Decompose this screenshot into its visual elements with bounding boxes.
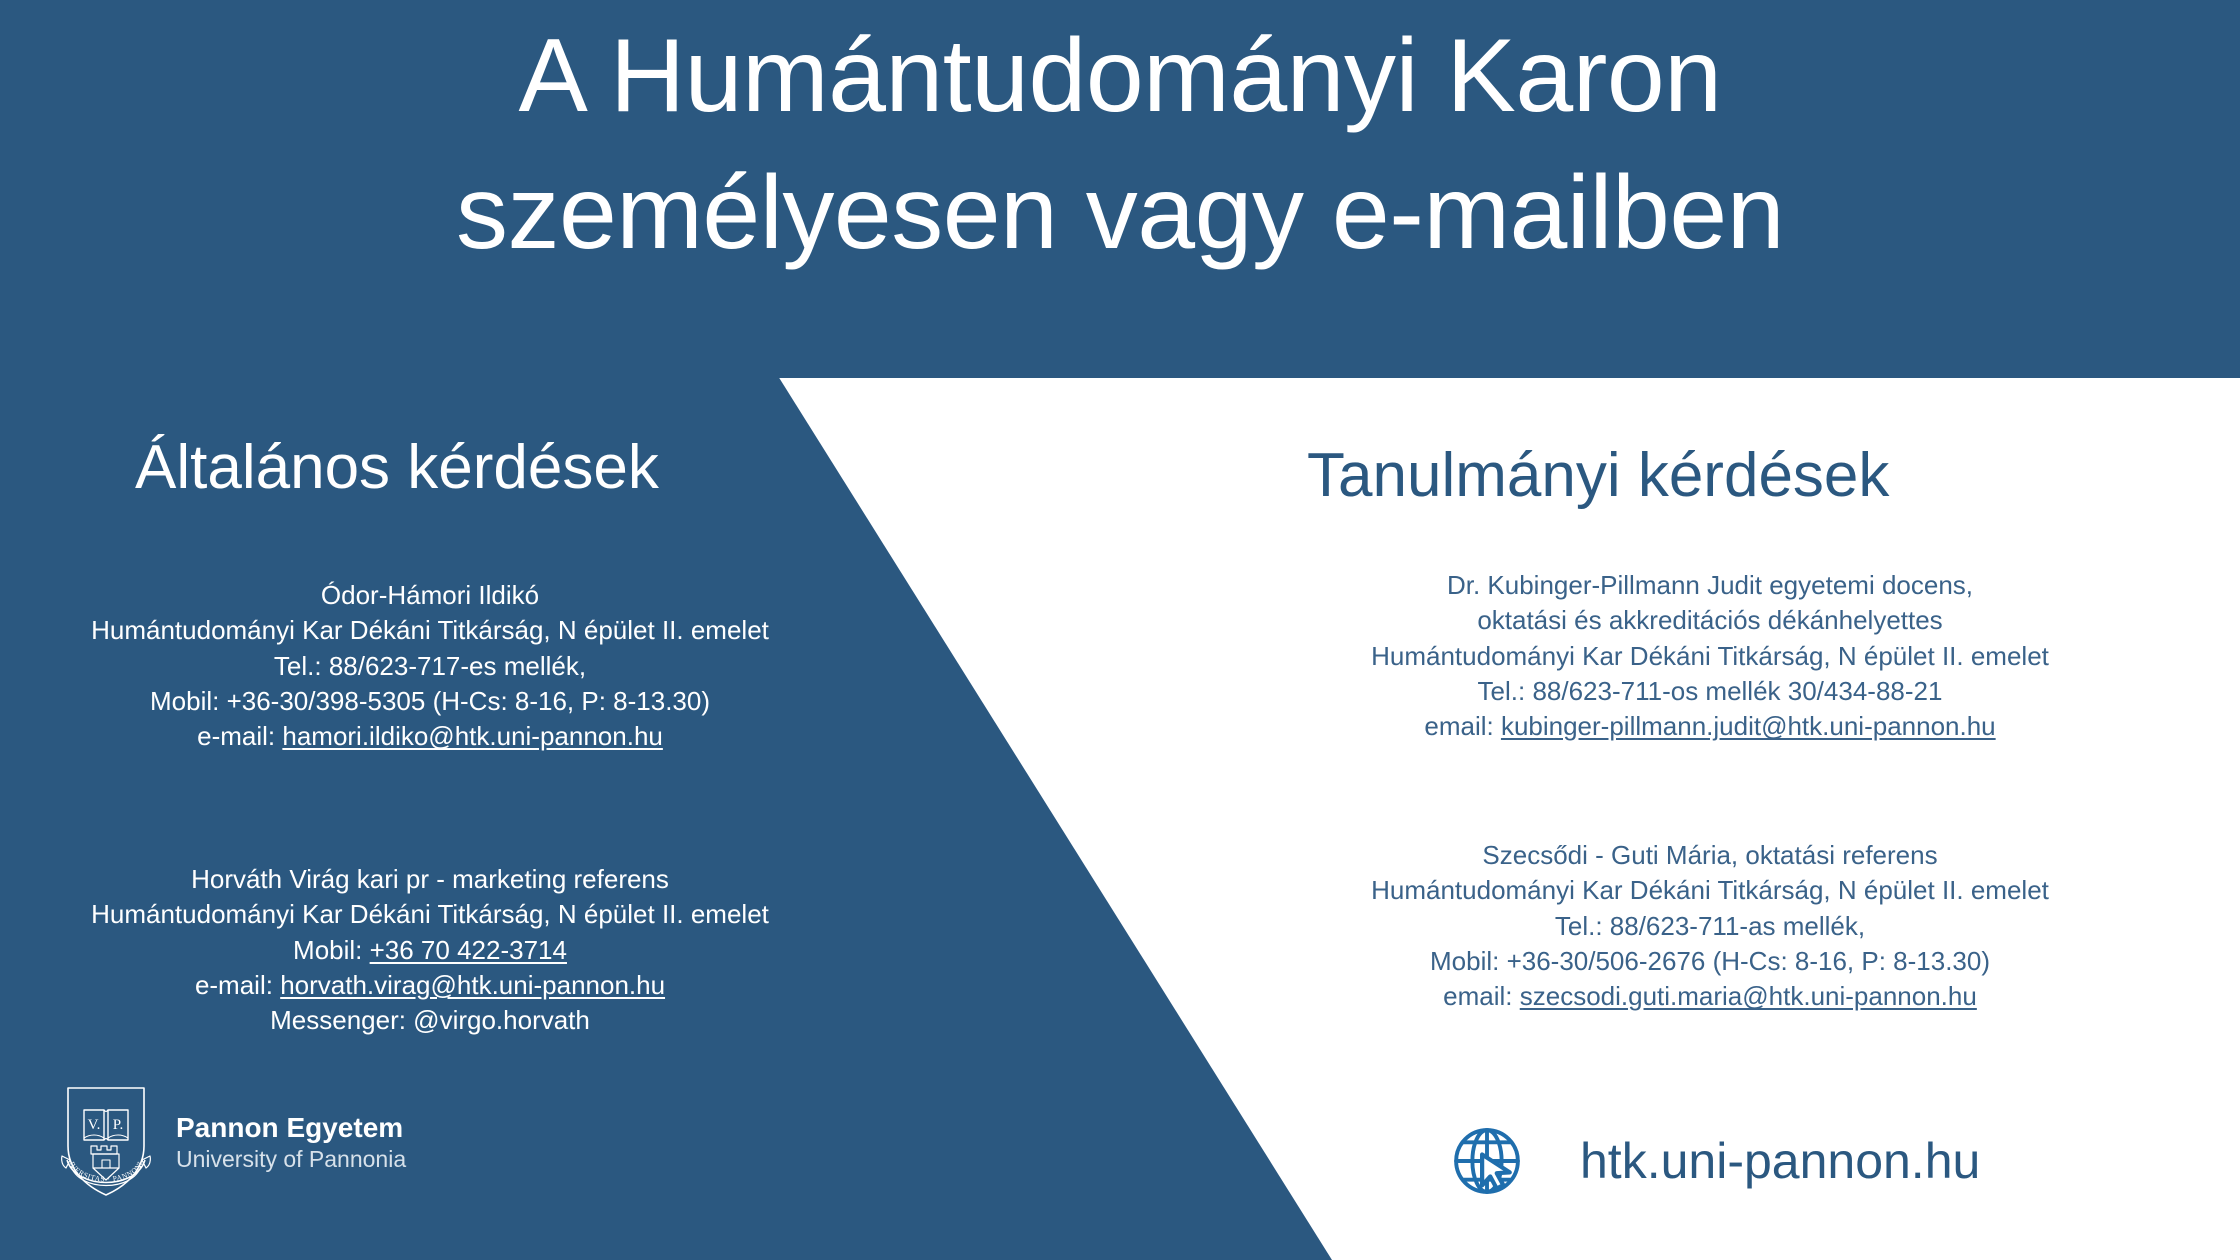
- contact-line: Dr. Kubinger-Pillmann Judit egyetemi doc…: [1280, 568, 2140, 603]
- contact-line: Tel.: 88/623-711-as mellék,: [1280, 909, 2140, 944]
- contact-line: e-mail: horvath.virag@htk.uni-pannon.hu: [20, 968, 840, 1003]
- contact-line: Szecsődi - Guti Mária, oktatási referens: [1280, 838, 2140, 873]
- contact-mobile: Mobil: +36-30/398-5305 (H-Cs: 8-16, P: 8…: [150, 686, 710, 716]
- contact-line: Humántudományi Kar Dékáni Titkárság, N é…: [20, 897, 840, 932]
- university-wordmark: Pannon Egyetem University of Pannonia: [176, 1111, 406, 1173]
- contact-email-label: e-mail:: [197, 721, 282, 751]
- contact-name: Ódor-Hámori Ildikó: [321, 580, 539, 610]
- svg-text:V.: V.: [88, 1117, 101, 1133]
- pannon-university-crest-icon: V. P. UNIVERSITAS · PANNONICA: [58, 1082, 154, 1202]
- university-name-hu: Pannon Egyetem: [176, 1111, 406, 1145]
- university-logo: V. P. UNIVERSITAS · PANNONICA: [58, 1082, 406, 1202]
- contact-phone: Tel.: 88/623-711-as mellék,: [1555, 911, 1865, 941]
- contact-email-link[interactable]: szecsodi.guti.maria@htk.uni-pannon.hu: [1520, 981, 1977, 1011]
- contact-line: e-mail: hamori.ildiko@htk.uni-pannon.hu: [20, 719, 840, 754]
- website-row[interactable]: htk.uni-pannon.hu: [1448, 1122, 1980, 1200]
- contact-email-label: email:: [1424, 711, 1501, 741]
- contact-name: Horváth Virág kari pr - marketing refere…: [191, 864, 669, 894]
- contact-line: Horváth Virág kari pr - marketing refere…: [20, 862, 840, 897]
- university-name-en: University of Pannonia: [176, 1145, 406, 1173]
- contact-block-general-2: Horváth Virág kari pr - marketing refere…: [20, 862, 840, 1039]
- website-url[interactable]: htk.uni-pannon.hu: [1580, 1132, 1980, 1190]
- contact-mobile-label: Mobil:: [293, 935, 370, 965]
- right-column-heading: Tanulmányi kérdések: [1307, 445, 1889, 507]
- contact-line: email: szecsodi.guti.maria@htk.uni-panno…: [1280, 979, 2140, 1014]
- contact-office: Humántudományi Kar Dékáni Titkárság, N é…: [1371, 641, 2049, 671]
- contact-name: Dr. Kubinger-Pillmann Judit egyetemi doc…: [1447, 570, 1973, 600]
- contact-email-link[interactable]: hamori.ildiko@htk.uni-pannon.hu: [282, 721, 663, 751]
- globe-cursor-icon: [1448, 1122, 1526, 1200]
- contact-line: Ódor-Hámori Ildikó: [20, 578, 840, 613]
- contact-line: Humántudományi Kar Dékáni Titkárság, N é…: [1280, 639, 2140, 674]
- contact-line: Mobil: +36 70 422-3714: [20, 933, 840, 968]
- contact-email-label: e-mail:: [195, 970, 280, 1000]
- left-column-heading: Általános kérdések: [135, 437, 659, 499]
- contact-mobile: Mobil: +36-30/506-2676 (H-Cs: 8-16, P: 8…: [1430, 946, 1990, 976]
- contact-office: Humántudományi Kar Dékáni Titkárság, N é…: [91, 899, 769, 929]
- contact-phone: Tel.: 88/623-717-es mellék,: [274, 651, 586, 681]
- contact-line: Messenger: @virgo.horvath: [20, 1003, 840, 1038]
- contact-email-label: email:: [1443, 981, 1520, 1011]
- contact-email-link[interactable]: horvath.virag@htk.uni-pannon.hu: [280, 970, 665, 1000]
- contact-block-general-1: Ódor-Hámori Ildikó Humántudományi Kar Dé…: [20, 578, 840, 755]
- contact-block-study-2: Szecsődi - Guti Mária, oktatási referens…: [1280, 838, 2140, 1015]
- page-title: A Humántudományi Karon személyesen vagy …: [0, 8, 2240, 283]
- contact-line: Mobil: +36-30/506-2676 (H-Cs: 8-16, P: 8…: [1280, 944, 2140, 979]
- contact-line: Tel.: 88/623-717-es mellék,: [20, 649, 840, 684]
- poster-canvas: A Humántudományi Karon személyesen vagy …: [0, 0, 2240, 1260]
- contact-line: Humántudományi Kar Dékáni Titkárság, N é…: [1280, 873, 2140, 908]
- contact-line: oktatási és akkreditációs dékánhelyettes: [1280, 603, 2140, 638]
- contact-line: Mobil: +36-30/398-5305 (H-Cs: 8-16, P: 8…: [20, 684, 840, 719]
- contact-email-link[interactable]: kubinger-pillmann.judit@htk.uni-pannon.h…: [1501, 711, 1996, 741]
- contact-line: Humántudományi Kar Dékáni Titkárság, N é…: [20, 613, 840, 648]
- contact-block-study-1: Dr. Kubinger-Pillmann Judit egyetemi doc…: [1280, 568, 2140, 745]
- contact-phone: Tel.: 88/623-711-os mellék 30/434-88-21: [1478, 676, 1943, 706]
- contact-name: Szecsődi - Guti Mária, oktatási referens: [1482, 840, 1937, 870]
- contact-messenger: Messenger: @virgo.horvath: [270, 1005, 590, 1035]
- svg-text:P.: P.: [113, 1117, 123, 1133]
- contact-office: Humántudományi Kar Dékáni Titkárság, N é…: [1371, 875, 2049, 905]
- contact-line: email: kubinger-pillmann.judit@htk.uni-p…: [1280, 709, 2140, 744]
- contact-line: Tel.: 88/623-711-os mellék 30/434-88-21: [1280, 674, 2140, 709]
- contact-mobile-link[interactable]: +36 70 422-3714: [370, 935, 567, 965]
- contact-role: oktatási és akkreditációs dékánhelyettes: [1477, 605, 1942, 635]
- contact-office: Humántudományi Kar Dékáni Titkárság, N é…: [91, 615, 769, 645]
